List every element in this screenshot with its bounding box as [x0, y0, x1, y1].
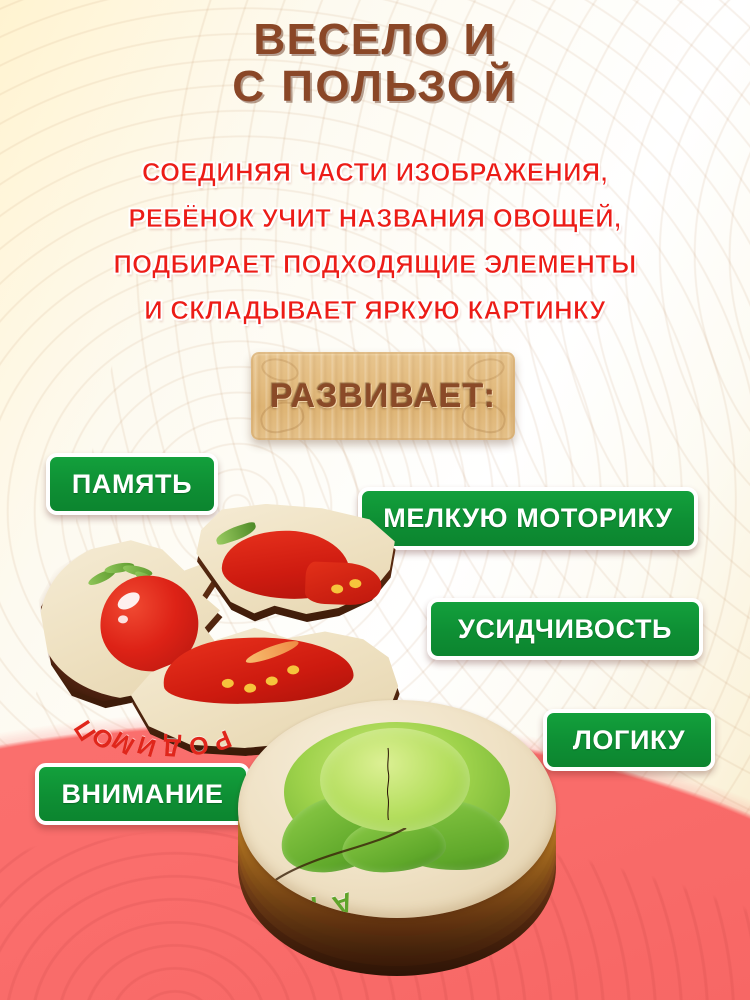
tomato-highlight — [115, 589, 143, 613]
puzzle-word-letter: С — [274, 888, 301, 918]
wooden-banner: РАЗВИВАЕТ: — [251, 352, 515, 440]
puzzle-word-kapusta: КАПУСТА — [272, 852, 530, 906]
tomato-seed — [287, 665, 299, 675]
headline-line-1: ВЕСЕЛО И — [0, 16, 750, 63]
page-title: ВЕСЕЛО И С ПОЛЬЗОЙ — [0, 16, 750, 110]
banner-label: РАЗВИВАЕТ: — [251, 352, 515, 440]
puzzle-piece-cabbage-stack: КАПУСТА — [232, 700, 562, 950]
tomato-seed — [331, 584, 343, 593]
subheadline-line-1: СОЕДИНЯЯ ЧАСТИ ИЗОБРАЖЕНИЯ, — [0, 150, 750, 196]
puzzle-piece-tomato-half — [194, 502, 398, 627]
subheadline-line-4: И СКЛАДЫВАЕТ ЯРКУЮ КАРТИНКУ — [0, 288, 750, 334]
skill-tag-memory: ПАМЯТЬ — [46, 453, 218, 515]
skill-tag-logic: ЛОГИКУ — [543, 709, 715, 771]
puzzle-word-letter: Т — [302, 889, 324, 918]
promo-poster: ВЕСЕЛО И С ПОЛЬЗОЙ СОЕДИНЯЯ ЧАСТИ ИЗОБРА… — [0, 0, 750, 1000]
cabbage-core — [320, 728, 470, 832]
skill-tag-fine-motor: МЕЛКУЮ МОТОРИКУ — [358, 487, 698, 550]
skill-tag-diligence: УСИДЧИВОСТЬ — [427, 598, 703, 660]
headline-line-2: С ПОЛЬЗОЙ — [0, 63, 750, 110]
subheadline-line-2: РЕБЁНОК УЧИТ НАЗВАНИЯ ОВОЩЕЙ, — [0, 196, 750, 242]
subheadline-line-3: ПОДБИРАЕТ ПОДХОДЯЩИЕ ЭЛЕМЕНТЫ — [0, 242, 750, 288]
subheadline: СОЕДИНЯЯ ЧАСТИ ИЗОБРАЖЕНИЯ, РЕБЁНОК УЧИТ… — [0, 150, 750, 334]
wood-disc-top: КАПУСТА — [238, 700, 556, 918]
puzzle-word-letter: Д — [157, 731, 182, 761]
tomato-highlight-small — [118, 615, 129, 624]
skill-tag-attention: ВНИМАНИЕ — [35, 763, 250, 825]
tomato-seed — [349, 579, 361, 588]
